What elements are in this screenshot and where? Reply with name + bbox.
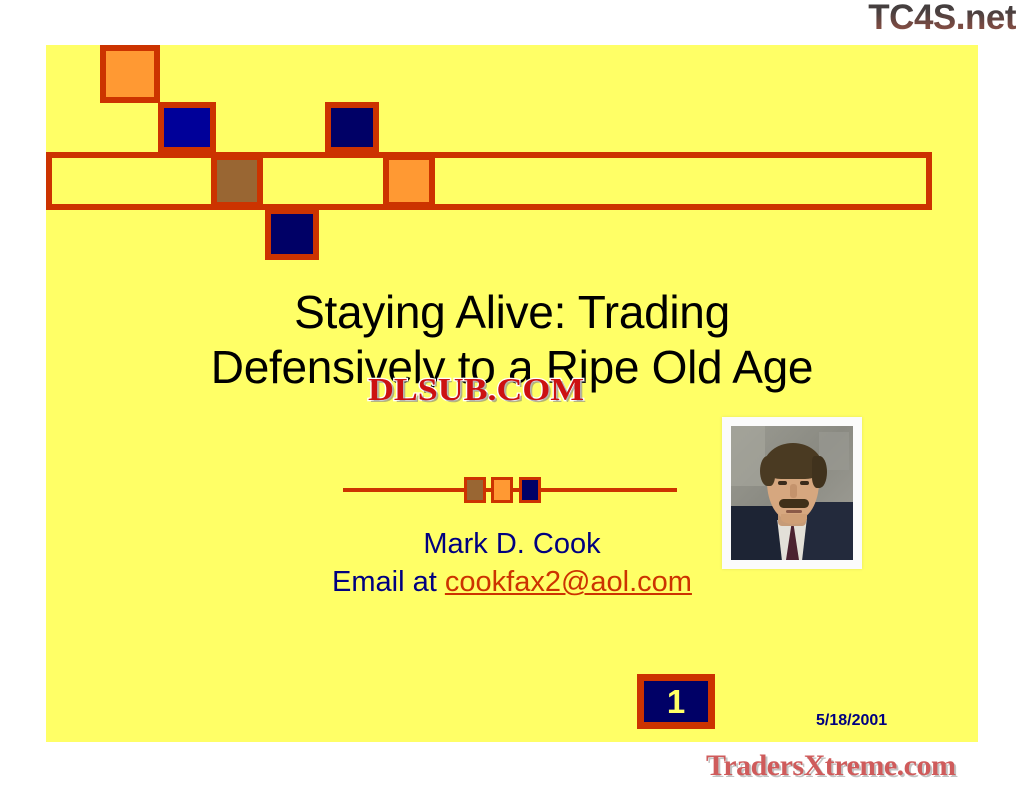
decorative-square-brown-inbar xyxy=(211,154,263,208)
overlay-watermark-dlsub: DLSUB.COM xyxy=(368,372,584,406)
author-name: Mark D. Cook xyxy=(46,525,978,563)
decorative-square-orange-inbar xyxy=(383,154,435,208)
decorative-square-orange-top xyxy=(100,45,160,103)
email-link[interactable]: cookfax2@aol.com xyxy=(445,566,692,598)
page-number-badge: 1 xyxy=(637,674,715,729)
slide-title-line-1: Staying Alive: Trading xyxy=(46,285,978,340)
author-byline: Mark D. Cook Email at cookfax2@aol.com xyxy=(46,525,978,601)
divider-square-navy xyxy=(519,477,541,503)
slide-date: 5/18/2001 xyxy=(816,712,887,730)
site-watermark-tradersxtreme: TradersXtreme.com xyxy=(706,748,955,784)
presentation-slide: Staying Alive: Trading Defensively to a … xyxy=(46,45,978,742)
decorative-square-blue-upper xyxy=(158,102,216,153)
site-logo-tc4s: TC4S.net xyxy=(868,0,1016,38)
divider-square-orange xyxy=(491,477,513,503)
decorative-bar xyxy=(46,152,932,210)
divider-square-brown xyxy=(464,477,486,503)
decorative-square-navy-upper xyxy=(325,102,379,153)
email-label: Email at xyxy=(332,566,445,598)
divider-ornament xyxy=(343,475,677,505)
decorative-square-navy-lower xyxy=(265,208,319,260)
author-email-line: Email at cookfax2@aol.com xyxy=(46,563,978,601)
